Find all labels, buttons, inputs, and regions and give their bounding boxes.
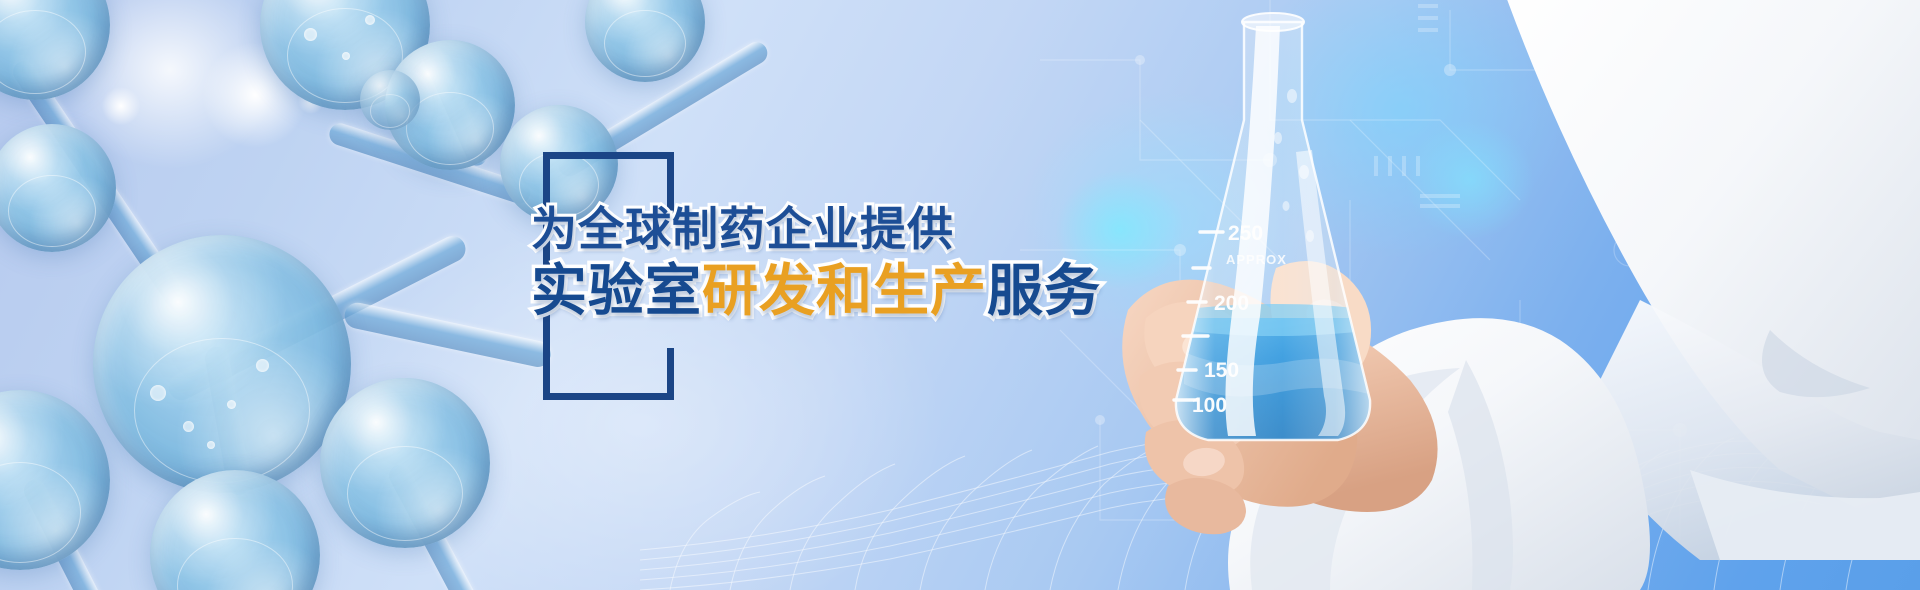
headline-line-2-part-3: 服务 xyxy=(987,259,1101,322)
molecule-atom xyxy=(0,390,110,570)
headline-lines: 为全球制药企业提供 实验室研发和生产服务 xyxy=(531,200,1191,326)
molecule-bond xyxy=(342,300,553,369)
molecule-atom xyxy=(585,0,705,82)
molecule-atom xyxy=(0,124,116,252)
molecule-atom xyxy=(0,0,110,100)
molecule-atom xyxy=(320,378,490,548)
hero-banner: 250 200 150 100 APPROX 为全球制药企业提供 实验室研发和生… xyxy=(0,0,1920,590)
headline-block: 为全球制药企业提供 实验室研发和生产服务 xyxy=(543,152,1243,402)
headline-line-1: 为全球制药企业提供 xyxy=(531,200,1191,258)
headline-line-2-part-1: 实验室 xyxy=(531,259,702,322)
molecule-atom xyxy=(150,470,320,590)
molecule-atom xyxy=(360,70,420,130)
headline-line-2: 实验室研发和生产服务 xyxy=(531,256,1191,326)
headline-line-2-part-2: 研发和生产 xyxy=(702,259,987,322)
molecule-atom-primary xyxy=(93,235,351,493)
